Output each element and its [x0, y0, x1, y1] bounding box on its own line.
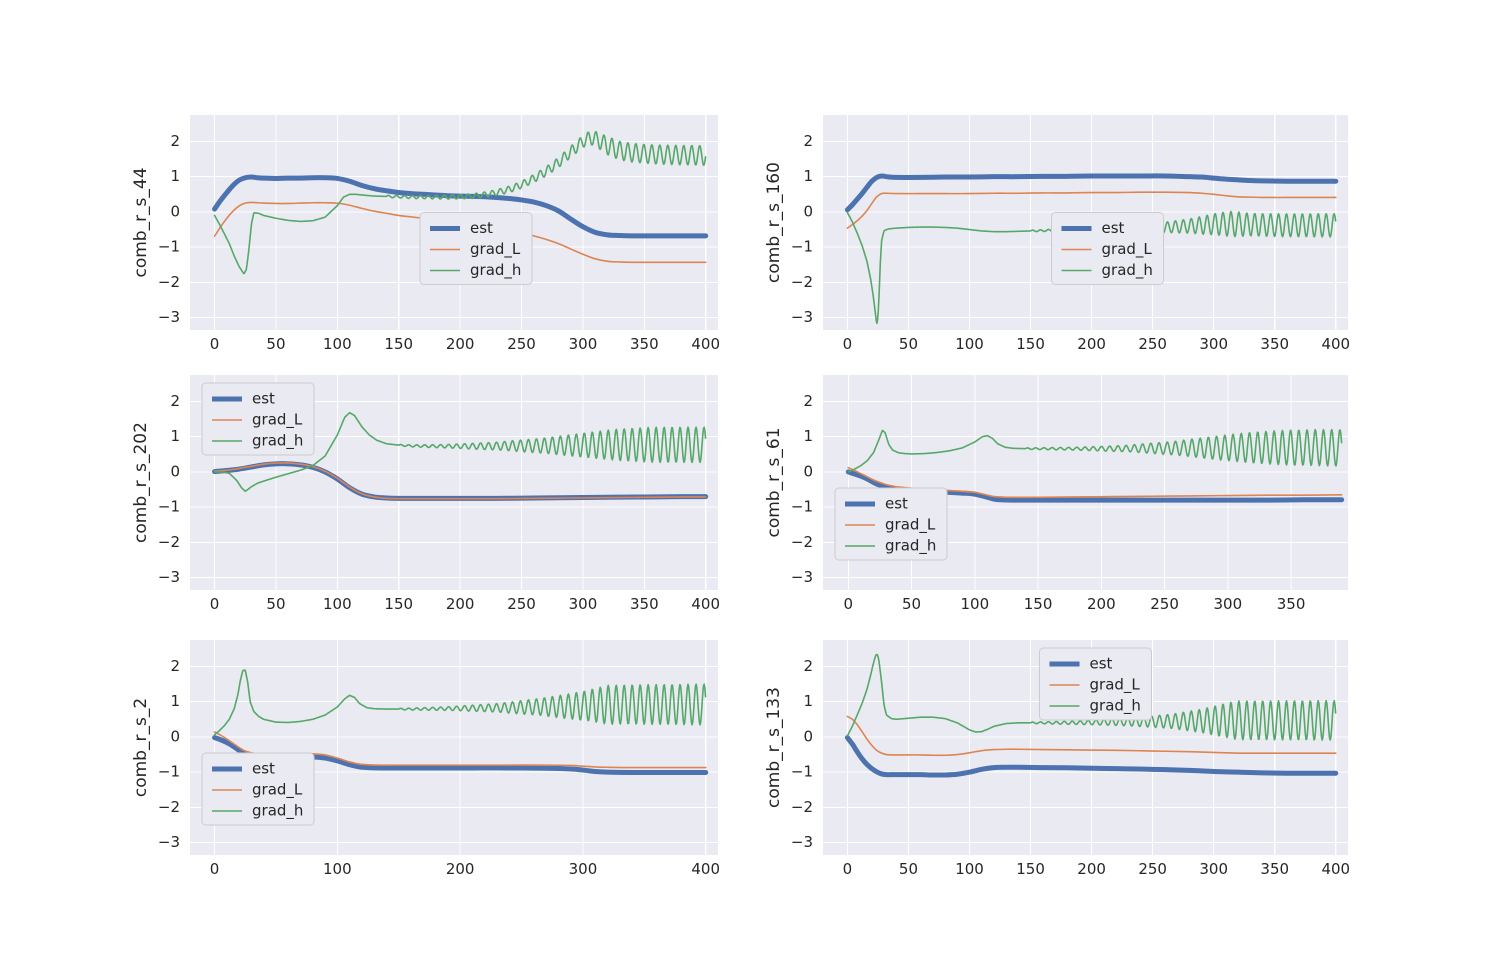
legend-label-grad_h: grad_h — [470, 261, 521, 280]
x-tick-label: 400 — [1321, 335, 1350, 353]
y-tick-label: −3 — [158, 308, 180, 326]
legend-label-grad_h: grad_h — [252, 432, 303, 451]
x-tick-label: 100 — [323, 860, 352, 878]
chart-panel-1: 050100150200250300350400210−1−2−3comb_r_… — [130, 111, 724, 358]
x-tick-label: 50 — [266, 595, 285, 613]
y-tick-label: 0 — [170, 727, 180, 745]
y-axis-label: comb_r_s_2 — [131, 698, 151, 797]
y-tick-label: −1 — [158, 763, 180, 781]
y-tick-label: 1 — [803, 692, 813, 710]
y-tick-label: −2 — [158, 533, 180, 551]
x-tick-label: 150 — [1016, 335, 1045, 353]
x-tick-label: 350 — [1260, 335, 1289, 353]
legend-label-est: est — [252, 390, 275, 408]
y-tick-label: −3 — [791, 308, 813, 326]
legend[interactable]: estgrad_Lgrad_h — [1052, 213, 1164, 285]
y-tick-label: −1 — [791, 763, 813, 781]
y-tick-label: 2 — [170, 392, 180, 410]
legend-label-grad_h: grad_h — [1102, 261, 1153, 280]
x-tick-label: 300 — [569, 335, 598, 353]
chart-panel-6: 050100150200250300350400210−1−2−3comb_r_… — [763, 636, 1354, 883]
legend-label-est: est — [1102, 219, 1125, 237]
x-tick-label: 200 — [446, 860, 475, 878]
y-tick-label: −3 — [791, 833, 813, 851]
y-axis-label: comb_r_s_202 — [131, 422, 151, 543]
x-tick-label: 250 — [1138, 335, 1167, 353]
y-tick-label: −2 — [158, 798, 180, 816]
y-tick-label: 1 — [803, 427, 813, 445]
x-tick-label: 300 — [1213, 595, 1242, 613]
x-tick-label: 100 — [323, 595, 352, 613]
y-tick-label: −3 — [158, 833, 180, 851]
y-axis-label: comb_r_s_160 — [764, 162, 784, 283]
x-tick-label: 0 — [210, 860, 220, 878]
x-tick-label: 0 — [210, 335, 220, 353]
x-tick-label: 50 — [266, 335, 285, 353]
x-tick-label: 300 — [569, 860, 598, 878]
x-tick-label: 0 — [844, 595, 854, 613]
x-tick-label: 200 — [1087, 595, 1116, 613]
y-tick-label: 0 — [170, 462, 180, 480]
y-tick-label: −1 — [158, 238, 180, 256]
legend-label-grad_h: grad_h — [885, 537, 936, 556]
x-tick-label: 200 — [446, 595, 475, 613]
y-tick-label: −2 — [791, 798, 813, 816]
x-tick-label: 50 — [899, 335, 918, 353]
legend-label-grad_L: grad_L — [1102, 240, 1153, 259]
legend-label-grad_h: grad_h — [252, 802, 303, 821]
legend[interactable]: estgrad_Lgrad_h — [1040, 648, 1152, 720]
legend-label-grad_L: grad_L — [1090, 676, 1141, 695]
x-tick-label: 350 — [1260, 860, 1289, 878]
legend-label-grad_L: grad_L — [885, 516, 936, 535]
y-tick-label: 2 — [803, 132, 813, 150]
y-axis-label: comb_r_s_44 — [131, 167, 151, 277]
chart-panel-5: 0100200300400210−1−2−3comb_r_s_2estgrad_… — [130, 636, 724, 883]
legend[interactable]: estgrad_Lgrad_h — [202, 753, 314, 825]
y-tick-label: −3 — [791, 568, 813, 586]
legend[interactable]: estgrad_Lgrad_h — [420, 213, 532, 285]
x-tick-label: 0 — [843, 335, 853, 353]
x-tick-label: 250 — [507, 335, 536, 353]
legend-label-grad_L: grad_L — [252, 411, 303, 430]
chart-panel-4: 050100150200250300350210−1−2−3comb_r_s_6… — [763, 371, 1354, 618]
x-tick-label: 100 — [955, 860, 984, 878]
x-tick-label: 400 — [691, 595, 720, 613]
x-tick-label: 200 — [446, 335, 475, 353]
x-tick-label: 0 — [843, 860, 853, 878]
x-tick-label: 200 — [1077, 860, 1106, 878]
legend-label-grad_L: grad_L — [252, 781, 303, 800]
y-tick-label: 2 — [170, 657, 180, 675]
y-tick-label: −1 — [791, 498, 813, 516]
y-tick-label: 2 — [803, 657, 813, 675]
chart-panel-2: 050100150200250300350400210−1−2−3comb_r_… — [763, 111, 1354, 358]
y-tick-label: 0 — [803, 202, 813, 220]
legend-label-est: est — [885, 495, 908, 513]
x-tick-label: 350 — [1277, 595, 1306, 613]
x-tick-label: 400 — [1321, 860, 1350, 878]
x-tick-label: 150 — [1024, 595, 1053, 613]
y-tick-label: 2 — [803, 392, 813, 410]
legend[interactable]: estgrad_Lgrad_h — [835, 488, 947, 560]
x-tick-label: 300 — [569, 595, 598, 613]
legend[interactable]: estgrad_Lgrad_h — [202, 383, 314, 455]
y-tick-label: 0 — [803, 462, 813, 480]
y-tick-label: 1 — [170, 427, 180, 445]
y-tick-label: −2 — [791, 273, 813, 291]
x-tick-label: 0 — [210, 595, 220, 613]
chart-panel-3: 050100150200250300350400210−1−2−3comb_r_… — [130, 371, 724, 618]
legend-label-est: est — [252, 760, 275, 778]
x-tick-label: 50 — [902, 595, 921, 613]
legend-label-grad_L: grad_L — [470, 240, 521, 259]
y-tick-label: −2 — [791, 533, 813, 551]
x-tick-label: 50 — [899, 860, 918, 878]
x-tick-label: 400 — [691, 860, 720, 878]
y-axis-label: comb_r_s_61 — [764, 427, 784, 537]
y-tick-label: −3 — [158, 568, 180, 586]
x-tick-label: 350 — [630, 335, 659, 353]
figure-canvas: 050100150200250300350400210−1−2−3comb_r_… — [0, 0, 1500, 961]
y-tick-label: 1 — [170, 692, 180, 710]
y-tick-label: −2 — [158, 273, 180, 291]
y-tick-label: 1 — [803, 167, 813, 185]
x-tick-label: 200 — [1077, 335, 1106, 353]
legend-label-est: est — [470, 219, 493, 237]
y-tick-label: 2 — [170, 132, 180, 150]
legend-label-grad_h: grad_h — [1090, 697, 1141, 716]
x-tick-label: 100 — [955, 335, 984, 353]
x-tick-label: 250 — [507, 595, 536, 613]
y-tick-label: −1 — [158, 498, 180, 516]
y-tick-label: 0 — [170, 202, 180, 220]
x-tick-label: 250 — [1150, 595, 1179, 613]
x-tick-label: 150 — [1016, 860, 1045, 878]
x-tick-label: 300 — [1199, 335, 1228, 353]
y-tick-label: −1 — [791, 238, 813, 256]
x-tick-label: 150 — [384, 335, 413, 353]
x-tick-label: 300 — [1199, 860, 1228, 878]
y-tick-label: 1 — [170, 167, 180, 185]
x-tick-label: 100 — [960, 595, 989, 613]
x-tick-label: 100 — [323, 335, 352, 353]
y-axis-label: comb_r_s_133 — [764, 687, 784, 808]
x-tick-label: 250 — [1138, 860, 1167, 878]
x-tick-label: 150 — [384, 595, 413, 613]
x-tick-label: 350 — [630, 595, 659, 613]
y-tick-label: 0 — [803, 727, 813, 745]
legend-label-est: est — [1090, 655, 1113, 673]
x-tick-label: 400 — [691, 335, 720, 353]
